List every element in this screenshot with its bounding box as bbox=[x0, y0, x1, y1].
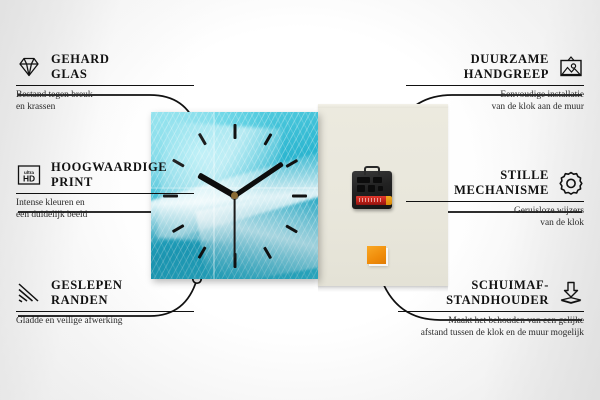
divider bbox=[406, 201, 584, 202]
svg-text:HD: HD bbox=[23, 173, 35, 183]
infographic-stage: GEHARD GLAS Bestand tegen breuk en krass… bbox=[0, 0, 600, 400]
hour-marker-2 bbox=[285, 158, 298, 167]
hour-marker-1 bbox=[263, 132, 272, 145]
framed-picture-icon bbox=[558, 54, 584, 80]
feature-header: GESLEPEN RANDEN bbox=[16, 278, 194, 307]
feature-title: GESLEPEN RANDEN bbox=[51, 278, 123, 307]
feature-title: STILLE MECHANISME bbox=[454, 168, 549, 197]
feature-gehard-glas: GEHARD GLAS Bestand tegen breuk en krass… bbox=[16, 52, 194, 114]
feature-description: Maakt het behouden van een gelijke afsta… bbox=[398, 316, 584, 339]
feature-geslepen-randen: GESLEPEN RANDEN Gladde en veilige afwerk… bbox=[16, 278, 194, 328]
feature-stille-mechanisme: STILLE MECHANISME Geruisloze wijzers van… bbox=[406, 168, 584, 230]
divider bbox=[16, 193, 194, 194]
diagonal-lines-icon bbox=[16, 280, 42, 306]
feature-hoogwaardige-print: ultra HD HOOGWAARDIGE PRINT Intense kleu… bbox=[16, 160, 194, 222]
feature-duurzame-handgreep: DUURZAME HANDGREEP Eenvoudige installati… bbox=[406, 52, 584, 114]
movement-detail bbox=[378, 186, 383, 191]
wall-hanger-bracket bbox=[364, 166, 380, 175]
gear-icon bbox=[558, 170, 584, 196]
battery-positive-terminal bbox=[386, 196, 392, 205]
clock-center-pin bbox=[231, 192, 238, 199]
divider bbox=[398, 311, 584, 312]
aa-battery bbox=[356, 196, 389, 205]
movement-detail bbox=[368, 185, 375, 192]
second-hand bbox=[234, 196, 236, 258]
hour-marker-3 bbox=[292, 194, 307, 197]
hour-marker-8 bbox=[171, 224, 184, 233]
feature-description: Geruisloze wijzers van de klok bbox=[406, 206, 584, 229]
feature-description: Bestand tegen breuk en krassen bbox=[16, 90, 194, 113]
ultra-hd-icon: ultra HD bbox=[16, 162, 42, 188]
feature-header: STILLE MECHANISME bbox=[406, 168, 584, 197]
feature-title: GEHARD GLAS bbox=[51, 52, 109, 81]
feature-header: GEHARD GLAS bbox=[16, 52, 194, 81]
feature-description: Eenvoudige installatie van de klok aan d… bbox=[406, 90, 584, 113]
hour-marker-7 bbox=[197, 246, 206, 259]
down-arrow-pad-icon bbox=[558, 280, 584, 306]
feature-title: DUURZAME HANDGREEP bbox=[464, 52, 549, 81]
foam-spacer bbox=[367, 246, 386, 264]
hour-marker-4 bbox=[285, 224, 298, 233]
feature-description: Intense kleuren en een duidelijk beeld bbox=[16, 198, 194, 221]
feature-schuimafstandhouder: SCHUIMAF- STANDHOUDER Maakt het behouden… bbox=[398, 278, 584, 340]
feature-title: HOOGWAARDIGE PRINT bbox=[51, 160, 167, 189]
feature-header: DUURZAME HANDGREEP bbox=[406, 52, 584, 81]
divider bbox=[406, 85, 584, 86]
divider bbox=[16, 311, 194, 312]
feature-header: ultra HD HOOGWAARDIGE PRINT bbox=[16, 160, 194, 189]
diamond-icon bbox=[16, 54, 42, 80]
feature-header: SCHUIMAF- STANDHOUDER bbox=[398, 278, 584, 307]
hour-marker-5 bbox=[263, 246, 272, 259]
movement-detail bbox=[373, 177, 382, 183]
battery-label bbox=[359, 198, 381, 202]
movement-detail bbox=[357, 185, 365, 192]
hour-marker-11 bbox=[197, 132, 206, 145]
clock-movement-module bbox=[352, 171, 392, 209]
divider bbox=[16, 85, 194, 86]
hour-marker-12 bbox=[233, 124, 236, 139]
feature-description: Gladde en veilige afwerking bbox=[16, 316, 194, 328]
movement-detail bbox=[357, 177, 370, 183]
feature-title: SCHUIMAF- STANDHOUDER bbox=[446, 278, 549, 307]
